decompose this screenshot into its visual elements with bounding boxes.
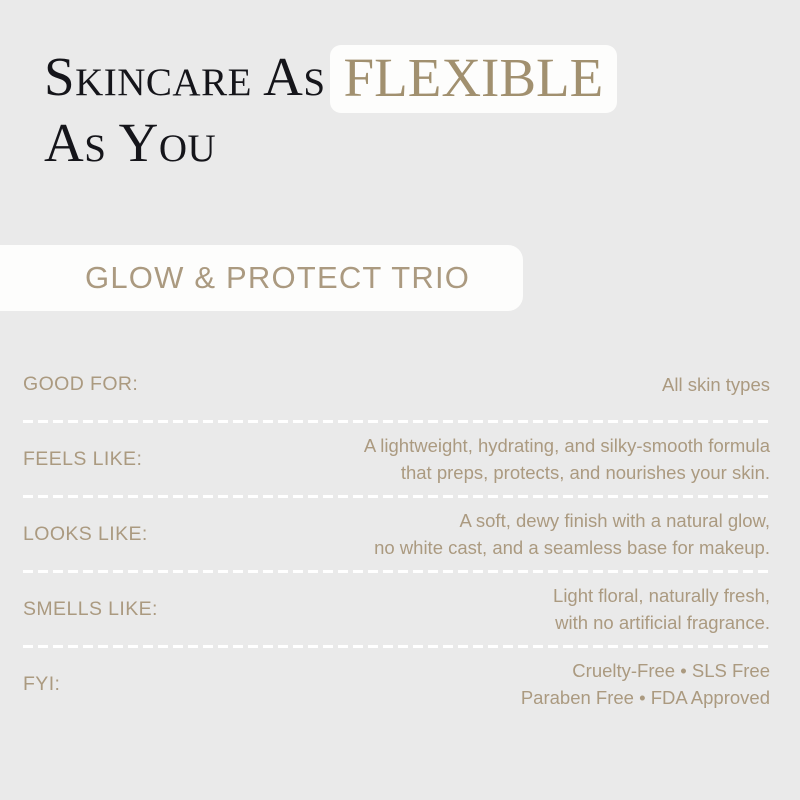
- attribute-row: FEELS LIKE:A lightweight, hydrating, and…: [23, 423, 770, 495]
- attribute-row: GOOD FOR:All skin types: [23, 348, 770, 420]
- attribute-label: FEELS LIKE:: [23, 448, 162, 471]
- attribute-value-line: no white cast, and a seamless base for m…: [168, 534, 770, 561]
- attribute-row: FYI:Cruelty-Free • SLS FreeParaben Free …: [23, 648, 770, 720]
- attribute-value-line: A lightweight, hydrating, and silky-smoo…: [162, 432, 770, 459]
- attribute-label: GOOD FOR:: [23, 373, 158, 396]
- attribute-value-line: with no artificial fragrance.: [178, 609, 770, 636]
- attribute-value: Cruelty-Free • SLS FreeParaben Free • FD…: [80, 657, 770, 711]
- attribute-value-line: Light floral, naturally fresh,: [178, 582, 770, 609]
- headline-highlight-flexible: FLEXIBLE: [330, 45, 618, 113]
- attribute-value-line: All skin types: [158, 371, 770, 398]
- attribute-label: LOOKS LIKE:: [23, 523, 168, 546]
- attribute-value-line: A soft, dewy finish with a natural glow,: [168, 507, 770, 534]
- attribute-table: GOOD FOR:All skin typesFEELS LIKE:A ligh…: [23, 348, 770, 720]
- product-title: GLOW & PROTECT TRIO: [85, 260, 470, 296]
- attribute-value-line: Cruelty-Free • SLS Free: [80, 657, 770, 684]
- attribute-row: SMELLS LIKE:Light floral, naturally fres…: [23, 573, 770, 645]
- headline-line-1: Skincare AsFLEXIBLE: [44, 44, 764, 112]
- attribute-value: All skin types: [158, 371, 770, 398]
- attribute-row: LOOKS LIKE:A soft, dewy finish with a na…: [23, 498, 770, 570]
- attribute-value: A soft, dewy finish with a natural glow,…: [168, 507, 770, 561]
- attribute-label: FYI:: [23, 673, 80, 696]
- attribute-value: Light floral, naturally fresh,with no ar…: [178, 582, 770, 636]
- headline-line-2: As You: [44, 112, 764, 174]
- attribute-value: A lightweight, hydrating, and silky-smoo…: [162, 432, 770, 486]
- attribute-label: SMELLS LIKE:: [23, 598, 178, 621]
- attribute-value-line: Paraben Free • FDA Approved: [80, 684, 770, 711]
- product-title-banner: GLOW & PROTECT TRIO: [0, 245, 523, 311]
- page-headline: Skincare AsFLEXIBLE As You: [44, 44, 764, 174]
- headline-prefix: Skincare As: [44, 46, 326, 107]
- attribute-value-line: that preps, protects, and nourishes your…: [162, 459, 770, 486]
